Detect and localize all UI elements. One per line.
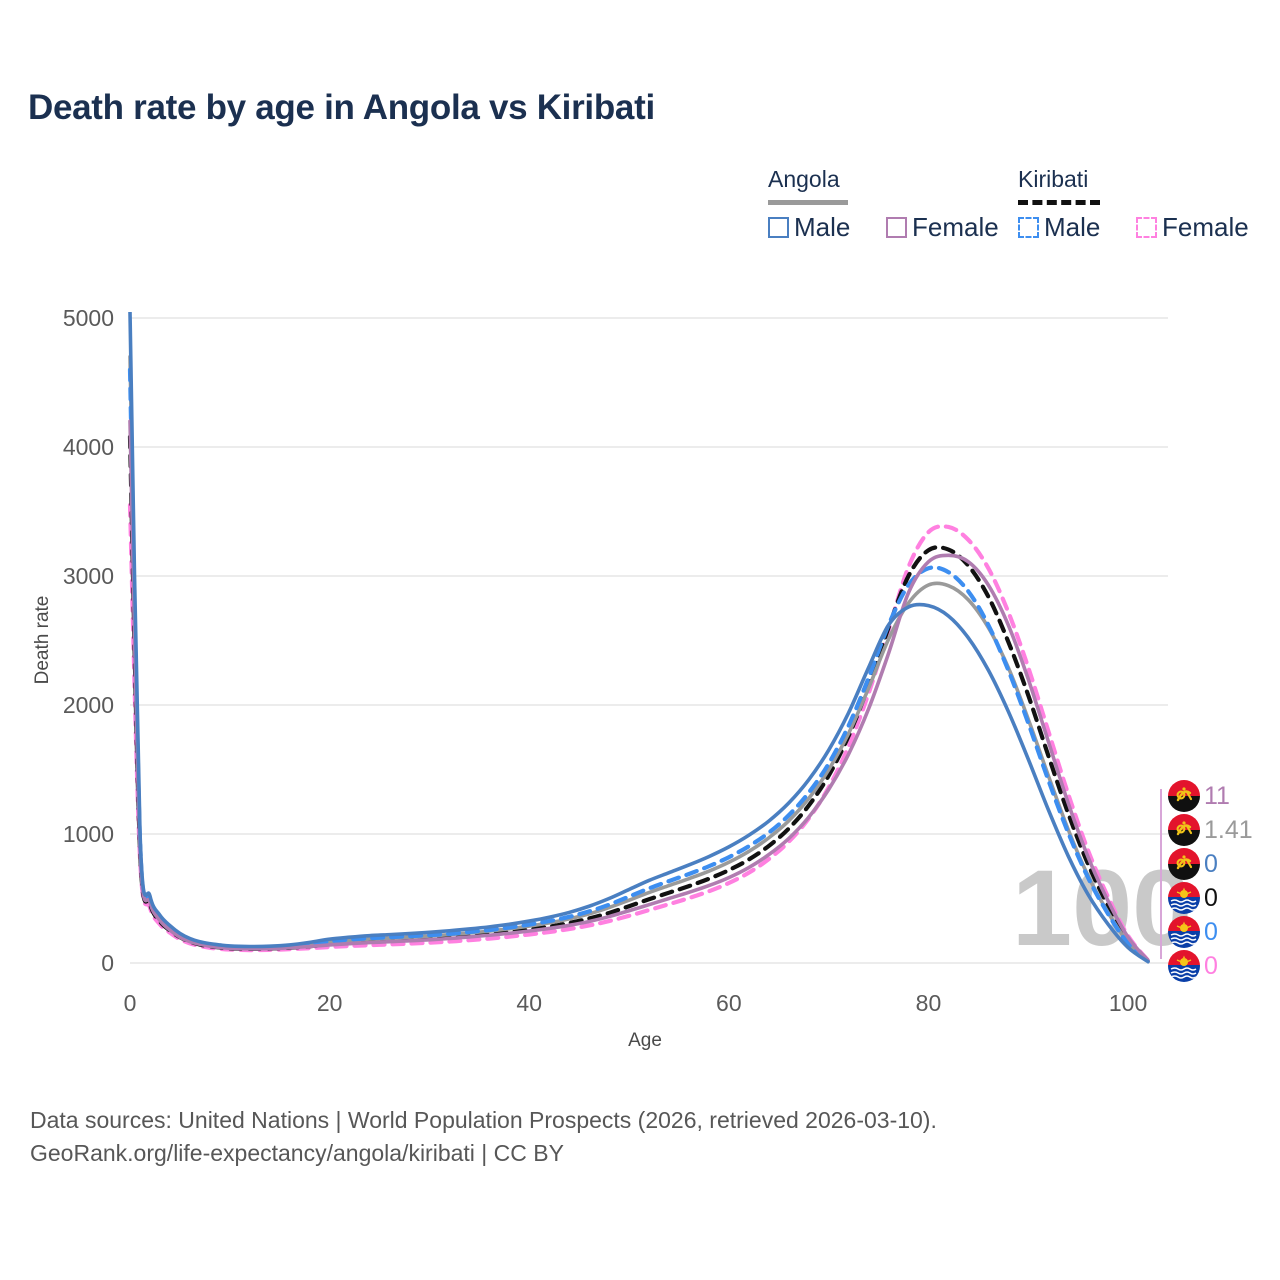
legend-group-rule-angola xyxy=(768,200,848,205)
end-label-kiribati-total[interactable]: 0 xyxy=(1168,881,1218,915)
x-axis-tick-labels: 020406080100 xyxy=(124,990,1148,1016)
end-label-kiribati-male[interactable]: 0 xyxy=(1168,915,1218,949)
kiribati-flag-icon xyxy=(1168,950,1200,982)
legend-swatch-icon xyxy=(1136,217,1157,238)
footer-attribution: GeoRank.org/life-expectancy/angola/kirib… xyxy=(30,1137,1230,1170)
kiribati-flag-icon xyxy=(1168,916,1200,948)
svg-text:1000: 1000 xyxy=(63,821,114,847)
kiribati-flag-icon xyxy=(1168,882,1200,914)
page-title: Death rate by age in Angola vs Kiribati xyxy=(28,88,655,128)
svg-text:0: 0 xyxy=(101,950,114,976)
end-label-angola-female[interactable]: 11 xyxy=(1168,779,1230,813)
legend-swatch-icon xyxy=(1018,217,1039,238)
legend-item-kiribati-male[interactable]: Male xyxy=(1018,212,1100,243)
legend-item-label: Male xyxy=(1044,212,1100,243)
angola-flag-icon xyxy=(1168,814,1200,846)
angola-flag-icon xyxy=(1168,848,1200,880)
series-line-angola-male xyxy=(130,312,1148,962)
footer: Data sources: United Nations | World Pop… xyxy=(30,1104,1230,1171)
legend-swatch-icon xyxy=(768,217,789,238)
svg-text:40: 40 xyxy=(516,990,542,1016)
series-line-kiribati-female xyxy=(130,505,1148,960)
x-axis-title: Age xyxy=(628,1030,662,1051)
angola-flag-icon xyxy=(1168,780,1200,812)
svg-text:80: 80 xyxy=(916,990,942,1016)
end-label-value: 0 xyxy=(1204,886,1218,911)
series-end-labels: 11 1.41 0 xyxy=(1160,775,1280,985)
svg-text:4000: 4000 xyxy=(63,434,114,460)
end-label-value: 0 xyxy=(1204,920,1218,945)
series-line-angola-female xyxy=(130,421,1148,960)
gridlines xyxy=(130,318,1168,963)
end-label-angola-total[interactable]: 1.41 xyxy=(1168,813,1253,847)
svg-text:2000: 2000 xyxy=(63,692,114,718)
chart-legend: Angola Kiribati Male Female Male Female xyxy=(760,160,1260,250)
svg-text:0: 0 xyxy=(124,990,137,1016)
y-axis-title: Death rate xyxy=(32,596,53,685)
footer-data-sources: Data sources: United Nations | World Pop… xyxy=(30,1104,1230,1137)
series-lines xyxy=(130,312,1148,962)
legend-swatch-icon xyxy=(886,217,907,238)
svg-text:3000: 3000 xyxy=(63,563,114,589)
legend-item-kiribati-female[interactable]: Female xyxy=(1136,212,1249,243)
legend-group-title-kiribati: Kiribati xyxy=(1018,166,1088,193)
end-label-connector xyxy=(1160,789,1162,959)
legend-item-angola-male[interactable]: Male xyxy=(768,212,850,243)
svg-text:20: 20 xyxy=(317,990,343,1016)
series-line-kiribati-male xyxy=(130,370,1148,962)
svg-text:5000: 5000 xyxy=(63,305,114,331)
end-label-value: 1.41 xyxy=(1204,818,1253,843)
end-label-value: 11 xyxy=(1204,784,1230,809)
legend-item-label: Male xyxy=(794,212,850,243)
y-axis-tick-labels: 010002000300040005000 xyxy=(63,305,114,976)
legend-item-label: Female xyxy=(912,212,999,243)
end-label-value: 0 xyxy=(1204,954,1218,979)
legend-group-title-angola: Angola xyxy=(768,166,840,193)
legend-item-label: Female xyxy=(1162,212,1249,243)
series-line-angola-total xyxy=(130,357,1148,961)
end-label-value: 0 xyxy=(1204,852,1218,877)
end-label-kiribati-female[interactable]: 0 xyxy=(1168,949,1218,983)
legend-item-angola-female[interactable]: Female xyxy=(886,212,999,243)
series-line-kiribati-total xyxy=(130,437,1148,961)
end-label-angola-male[interactable]: 0 xyxy=(1168,847,1218,881)
legend-group-rule-kiribati xyxy=(1018,200,1100,205)
svg-text:60: 60 xyxy=(716,990,742,1016)
svg-text:100: 100 xyxy=(1109,990,1147,1016)
